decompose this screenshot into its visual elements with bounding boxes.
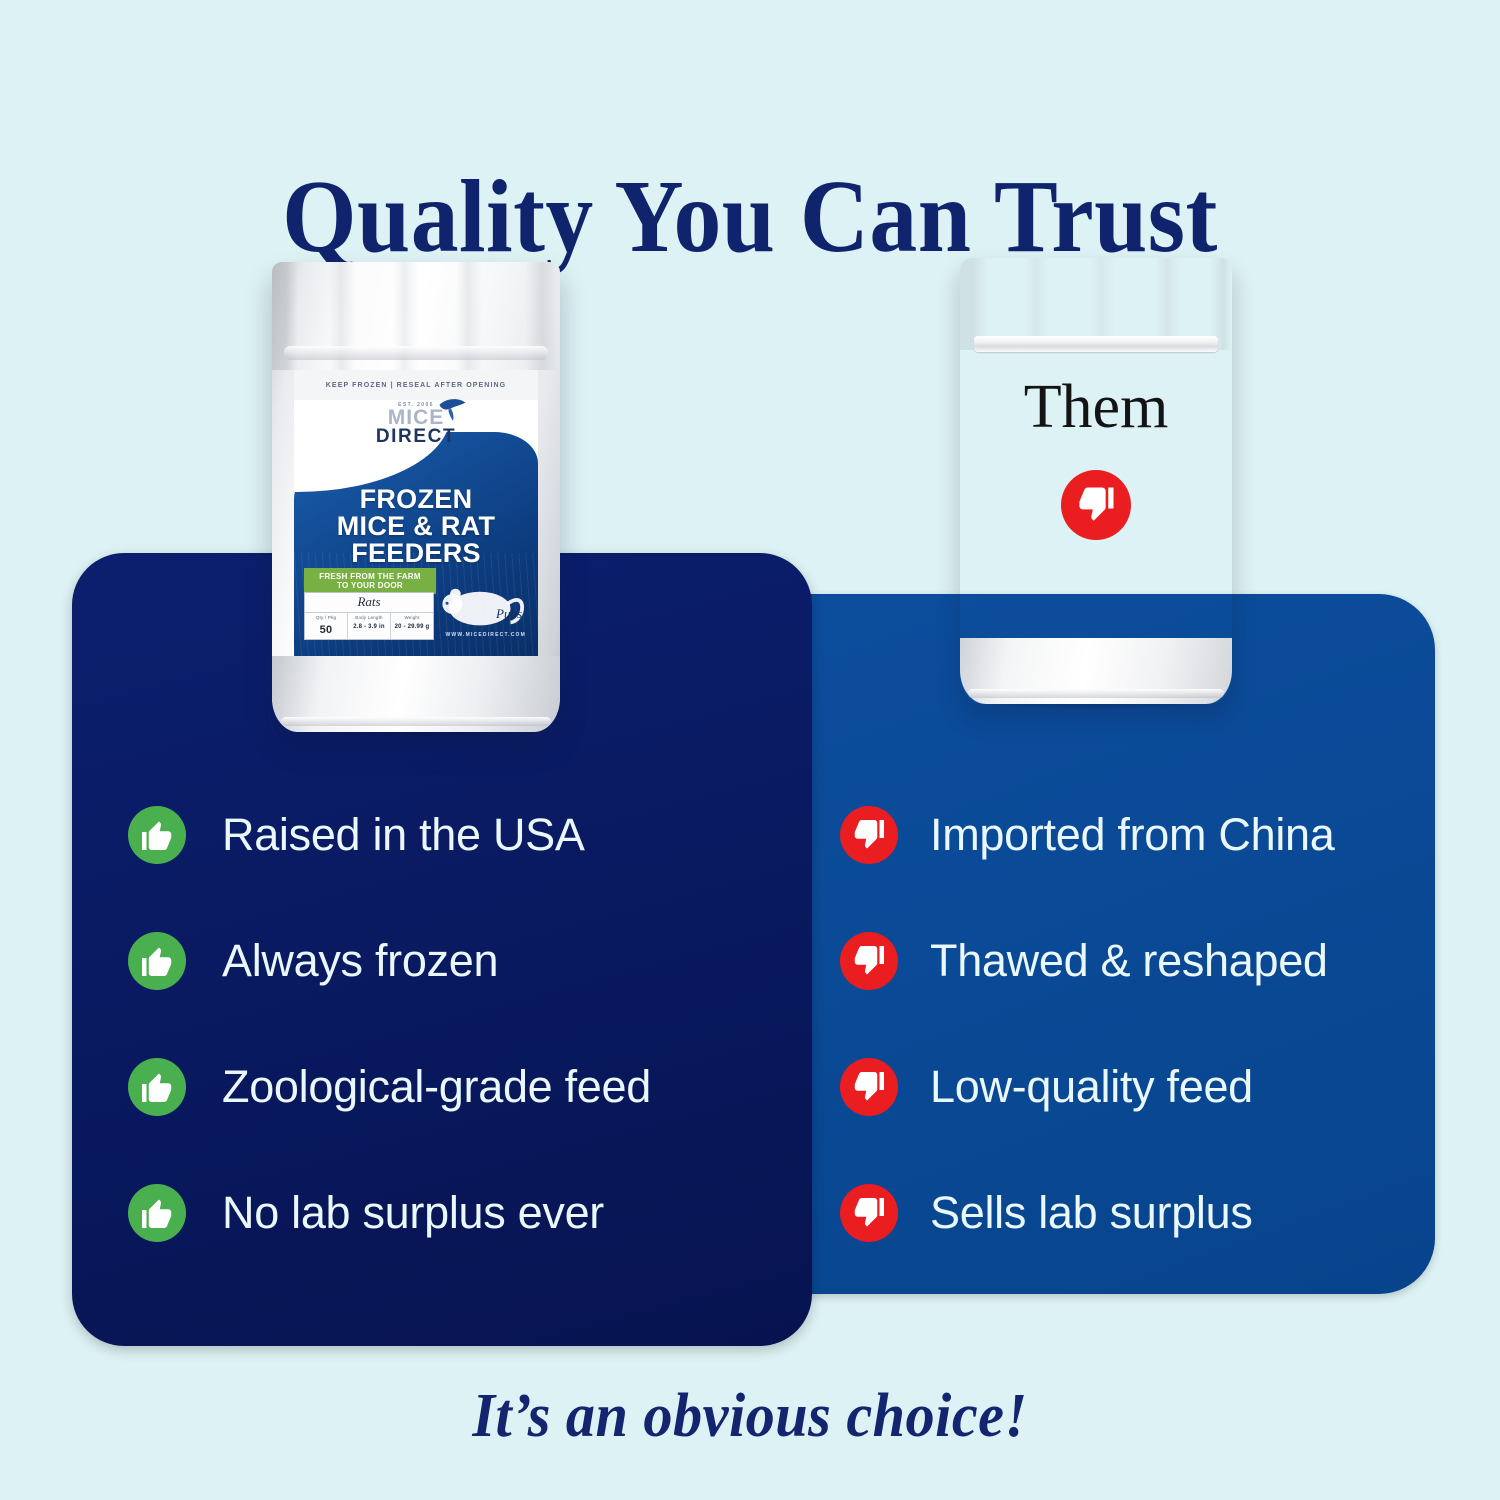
bag-title-line-2: MICE & RAT	[294, 513, 538, 540]
bag-spec-header-weight: Weight	[391, 613, 433, 622]
our-product-bag: KEEP FROZEN | RESEAL AFTER OPENING EST. …	[272, 262, 560, 732]
thumbs-down-icon	[840, 806, 898, 864]
thumbs-down-icon	[840, 932, 898, 990]
thumbs-up-glyph	[139, 1195, 175, 1231]
bag-storage-notice: KEEP FROZEN | RESEAL AFTER OPENING	[294, 370, 538, 400]
bag-spec-header-row: Qty / Pkg Body Length Weight	[305, 613, 433, 622]
bag-brand-logo: EST. 2005 MICE DIRECT	[294, 402, 538, 446]
list-item: Imported from China	[840, 772, 1420, 898]
thumbs-down-glyph	[851, 817, 887, 853]
list-item: Sells lab surplus	[840, 1150, 1420, 1276]
bag-front-label: KEEP FROZEN | RESEAL AFTER OPENING EST. …	[294, 370, 538, 656]
bag-title-line-1: FROZEN	[294, 486, 538, 513]
bag-website-text: WWW.MICEDIRECT.COM	[446, 632, 526, 638]
competitor-brand-name: Them	[960, 376, 1232, 438]
bag-freshness-line-1: FRESH FROM THE FARM	[306, 572, 434, 581]
bag-bottom-seal	[272, 656, 560, 732]
drawbacks-list: Imported from China Thawed & reshaped Lo…	[840, 772, 1420, 1276]
list-item-label: Sells lab surplus	[930, 1187, 1253, 1239]
bag-spec-header-qty: Qty / Pkg	[305, 613, 348, 622]
list-item: Thawed & reshaped	[840, 898, 1420, 1024]
bag-spec-value-weight: 20 - 29.99 g	[391, 622, 433, 639]
bag-size-label: Pups	[496, 606, 522, 622]
list-item: Low-quality feed	[840, 1024, 1420, 1150]
thumbs-down-icon	[840, 1184, 898, 1242]
list-item-label: Always frozen	[222, 935, 498, 987]
bird-icon	[436, 396, 470, 422]
bag-spec-value-row: 50 2.8 - 3.9 in 20 - 29.99 g	[305, 622, 433, 639]
thumbs-down-glyph	[851, 943, 887, 979]
thumbs-up-glyph	[139, 817, 175, 853]
them-bag-bottom-seal	[960, 638, 1232, 704]
benefits-list: Raised in the USA Always frozen Zoologic…	[128, 772, 788, 1276]
thumbs-down-glyph	[851, 1069, 887, 1105]
thumbs-up-icon	[128, 1184, 186, 1242]
bag-storage-notice-text: KEEP FROZEN | RESEAL AFTER OPENING	[326, 382, 506, 389]
list-item: Zoological-grade feed	[128, 1024, 788, 1150]
bag-spec-value-length: 2.8 - 3.9 in	[348, 622, 391, 639]
list-item: No lab surplus ever	[128, 1150, 788, 1276]
thumbs-up-icon	[128, 1058, 186, 1116]
bag-spec-value-qty: 50	[305, 622, 348, 639]
list-item: Always frozen	[128, 898, 788, 1024]
list-item-label: Low-quality feed	[930, 1061, 1253, 1113]
thumbs-up-icon	[128, 806, 186, 864]
competitor-product-bag: Them	[960, 258, 1232, 704]
bag-spec-table: Rats Qty / Pkg Body Length Weight 50 2.8…	[304, 592, 434, 640]
bag-title-line-3: FEEDERS	[294, 540, 538, 567]
thumbs-up-icon	[128, 932, 186, 990]
thumbs-up-glyph	[139, 943, 175, 979]
bag-logo-direct: DIRECT	[294, 427, 538, 446]
thumbs-down-glyph	[1075, 484, 1117, 526]
list-item-label: Thawed & reshaped	[930, 935, 1328, 987]
bag-top-gusset	[272, 262, 560, 370]
bag-spec-title: Rats	[305, 593, 433, 613]
page-title: Quality You Can Trust	[60, 162, 1440, 271]
list-item-label: Imported from China	[930, 809, 1334, 861]
list-item: Raised in the USA	[128, 772, 788, 898]
list-item-label: Zoological-grade feed	[222, 1061, 651, 1113]
thumbs-up-glyph	[139, 1069, 175, 1105]
bag-freshness-line-2: TO YOUR DOOR	[306, 581, 434, 590]
bag-product-title: FROZEN MICE & RAT FEEDERS	[294, 486, 538, 567]
list-item-label: Raised in the USA	[222, 809, 585, 861]
thumbs-down-icon	[1061, 470, 1131, 540]
them-bag-zipper	[974, 336, 1219, 352]
thumbs-down-glyph	[851, 1195, 887, 1231]
bag-spec-header-length: Body Length	[348, 613, 391, 622]
closing-tagline: It’s an obvious choice!	[45, 1381, 1455, 1452]
mouse-silhouette-icon	[440, 578, 532, 630]
list-item-label: No lab surplus ever	[222, 1187, 604, 1239]
thumbs-down-icon	[840, 1058, 898, 1116]
bag-freshness-banner: FRESH FROM THE FARM TO YOUR DOOR	[304, 568, 436, 594]
bag-logo-mice: MICE	[294, 408, 538, 427]
